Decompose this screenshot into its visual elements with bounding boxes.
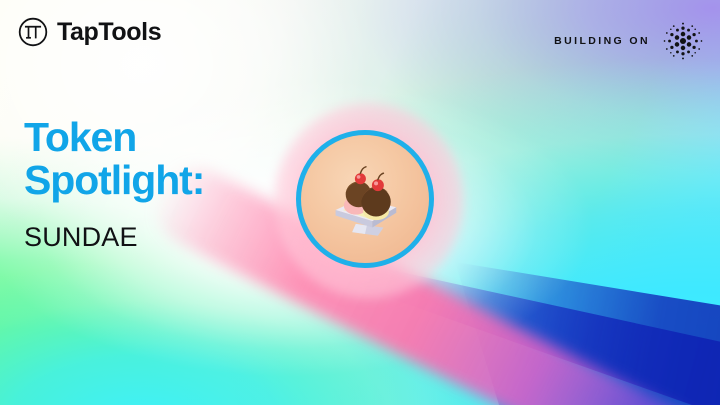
token-logo-circle (296, 130, 434, 268)
token-spotlight-banner: TapTools BUILDING ON (0, 0, 720, 405)
headline-line-1: Token (24, 116, 324, 159)
building-on-lockup: BUILDING ON (554, 20, 704, 62)
sundae-ice-cream-dish-icon (319, 153, 411, 245)
headline-block: Token Spotlight: SUNDAE (24, 116, 324, 253)
token-name: SUNDAE (24, 222, 324, 253)
cardano-radial-dots-logo-icon (662, 20, 704, 62)
brand-name: TapTools (57, 20, 161, 45)
brand-lockup: TapTools (18, 17, 161, 47)
headline-line-2: Spotlight: (24, 159, 324, 202)
navy-diagonal-beam-lower (455, 262, 720, 405)
taptools-circle-tt-logo-icon (18, 17, 48, 47)
building-on-label: BUILDING ON (554, 35, 650, 47)
